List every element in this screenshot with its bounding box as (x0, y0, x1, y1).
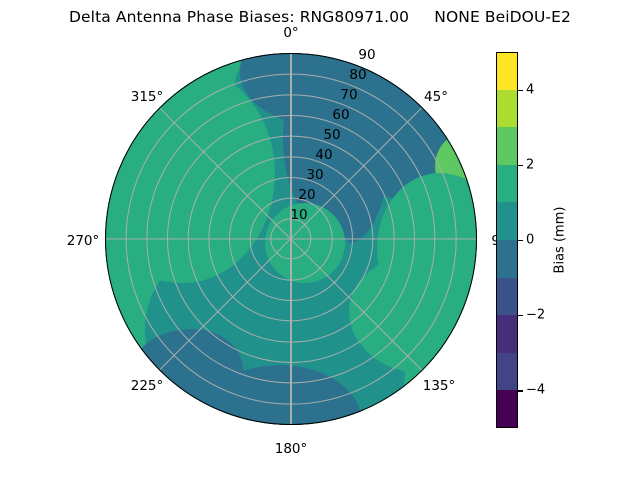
colorbar-tick-label-m2: −2 (526, 308, 545, 323)
colorbar-tick-0 (518, 240, 523, 241)
figure-canvas: Delta Antenna Phase Biases: RNG80971.00 … (0, 0, 640, 480)
r-tick-label-40: 40 (315, 147, 332, 163)
r-tick-label-80: 80 (349, 67, 366, 83)
theta-tick-label-270: 270° (67, 233, 100, 249)
theta-tick-label-0: 0° (283, 25, 298, 41)
theta-tick-label-135: 135° (423, 378, 456, 394)
colorbar-band-4 (496, 202, 518, 240)
r-tick-label-60: 60 (332, 107, 349, 123)
colorbar-tick-label-2: 2 (526, 157, 534, 172)
colorbar-band-2 (496, 127, 518, 165)
colorbar-tick-m2 (518, 315, 523, 316)
colorbar-band-5 (496, 240, 518, 278)
r-tick-label-10: 10 (290, 207, 307, 223)
colorbar-band-3 (496, 165, 518, 203)
colorbar-band-7 (496, 315, 518, 353)
r-tick-label-50: 50 (323, 127, 340, 143)
theta-tick-label-225: 225° (131, 378, 164, 394)
colorbar-gradient (496, 52, 518, 428)
theta-tick-label-180: 180° (275, 441, 308, 457)
colorbar[interactable]: 4 2 0 −2 −4 (496, 52, 518, 428)
colorbar-tick-m4 (518, 390, 523, 391)
colorbar-tick-label-m4: −4 (526, 383, 545, 398)
colorbar-band-6 (496, 278, 518, 316)
polar-axes[interactable]: 10 20 30 40 50 60 70 80 90 0° 45° 90 135… (105, 53, 477, 425)
colorbar-tick-2 (518, 165, 523, 166)
polar-data-surface (105, 53, 477, 425)
theta-tick-label-315: 315° (131, 89, 164, 105)
colorbar-tick-label-4: 4 (526, 82, 534, 97)
theta-tick-label-45: 45° (424, 89, 448, 105)
colorbar-band-9 (496, 390, 518, 428)
field-southwest-edge-negative (133, 329, 243, 409)
figure-title: Delta Antenna Phase Biases: RNG80971.00 … (0, 8, 640, 26)
colorbar-axis-label: Bias (mm) (553, 207, 568, 274)
r-tick-label-70: 70 (340, 87, 357, 103)
r-tick-label-30: 30 (306, 167, 323, 183)
colorbar-tick-label-0: 0 (526, 233, 534, 248)
colorbar-tick-4 (518, 90, 523, 91)
r-tick-label-20: 20 (298, 187, 315, 203)
r-tick-label-90: 90 (358, 47, 375, 63)
colorbar-band-0 (496, 52, 518, 90)
colorbar-band-8 (496, 353, 518, 391)
colorbar-band-1 (496, 90, 518, 128)
